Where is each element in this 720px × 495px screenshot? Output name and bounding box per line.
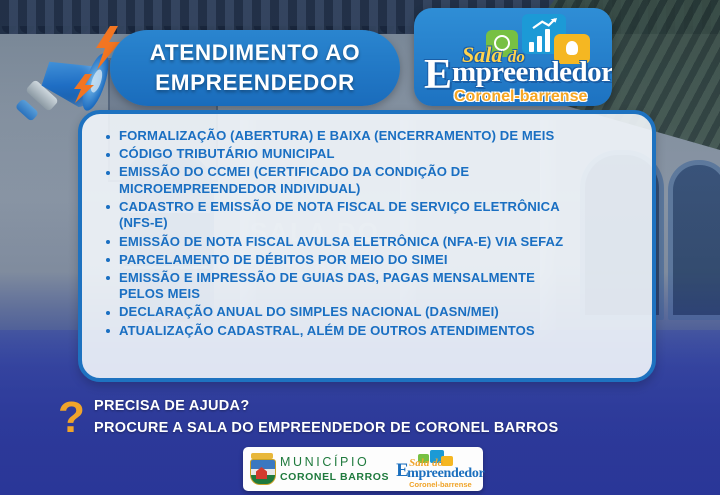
page-title-line-1: ATENDIMENTO AO — [150, 38, 360, 68]
list-item: CADASTRO E EMISSÃO DE NOTA FISCAL DE SER… — [104, 199, 634, 232]
lightning-bolt-icon-small — [72, 74, 100, 104]
sala-do-empreendedor-badge: Sala do E mpreendedor Coronel-barrense — [414, 8, 612, 106]
list-item: FORMALIZAÇÃO (ABERTURA) E BAIXA (ENCERRA… — [104, 128, 634, 145]
list-item: CÓDIGO TRIBUTÁRIO MUNICIPAL — [104, 146, 634, 163]
list-item-text-cont: PELOS MEIS — [119, 286, 634, 303]
list-item-text: CADASTRO E EMISSÃO DE NOTA FISCAL DE SER… — [119, 199, 560, 214]
list-item: DECLARAÇÃO ANUAL DO SIMPLES NACIONAL (DA… — [104, 304, 634, 321]
list-item-text-cont: (NFS-E) — [119, 215, 634, 232]
list-item-text-cont: MICROEMPREENDEDOR INDIVIDUAL) — [119, 181, 634, 198]
list-item-text: DECLARAÇÃO ANUAL DO SIMPLES NACIONAL (DA… — [119, 304, 499, 319]
list-item-text: PARCELAMENTO DE DÉBITOS POR MEIO DO SIME… — [119, 252, 448, 267]
badge-empreendedor-text: mpreendedor — [452, 56, 612, 89]
list-item-text: CÓDIGO TRIBUTÁRIO MUNICIPAL — [119, 146, 335, 161]
mini-sala-badge: E Sala do mpreendedor Coronel-barrense — [396, 451, 482, 487]
footer-line-2: PROCURE A SALA DO EMPREENDEDOR DE CORONE… — [94, 420, 558, 436]
growth-arrow-icon — [532, 18, 558, 30]
list-item-text: ATUALIZAÇÃO CADASTRAL, ALÉM DE OUTROS AT… — [119, 323, 535, 338]
badge-subtitle: Coronel-barrense — [454, 88, 587, 106]
footer-line-1: PRECISA DE AJUDA? — [94, 398, 250, 414]
megaphone-grip — [15, 98, 39, 122]
logo-strip: MUNICÍPIO CORONEL BARROS E Sala do mpree… — [243, 447, 483, 491]
list-item-text: EMISSÃO E IMPRESSÃO DE GUIAS DAS, PAGAS … — [119, 270, 535, 285]
page-title-line-2: EMPREENDEDOR — [155, 68, 355, 98]
municipality-wordmark: MUNICÍPIO CORONEL BARROS — [280, 456, 389, 482]
list-item: EMISSÃO E IMPRESSÃO DE GUIAS DAS, PAGAS … — [104, 270, 634, 303]
municipality-label: MUNICÍPIO — [280, 456, 389, 469]
coat-of-arms-icon — [249, 453, 275, 485]
municipality-city: CORONEL BARROS — [280, 472, 389, 483]
list-item: EMISSÃO DO CCMEI (CERTIFICADO DA CONDIÇÃ… — [104, 164, 634, 197]
services-list: FORMALIZAÇÃO (ABERTURA) E BAIXA (ENCERRA… — [104, 128, 634, 339]
list-item: EMISSÃO DE NOTA FISCAL AVULSA ELETRÔNICA… — [104, 234, 634, 251]
badge-letter-e: E — [424, 54, 452, 96]
services-card: FORMALIZAÇÃO (ABERTURA) E BAIXA (ENCERRA… — [78, 110, 656, 382]
list-item-text: EMISSÃO DO CCMEI (CERTIFICADO DA CONDIÇÃ… — [119, 164, 469, 179]
header-title-pill: ATENDIMENTO AO EMPREENDEDOR — [110, 30, 400, 106]
poster-canvas: SALA DO EMPREENDEDOR ATENDIMENTO AO EMPR… — [0, 0, 720, 495]
list-item: ATUALIZAÇÃO CADASTRAL, ALÉM DE OUTROS AT… — [104, 323, 634, 340]
question-mark-icon: ? — [58, 396, 88, 442]
mini-badge-subtitle: Coronel-barrense — [409, 480, 472, 489]
list-item: PARCELAMENTO DE DÉBITOS POR MEIO DO SIME… — [104, 252, 634, 269]
lightbulb-icon — [566, 41, 578, 55]
list-item-text: EMISSÃO DE NOTA FISCAL AVULSA ELETRÔNICA… — [119, 234, 563, 249]
list-item-text: FORMALIZAÇÃO (ABERTURA) E BAIXA (ENCERRA… — [119, 128, 554, 143]
